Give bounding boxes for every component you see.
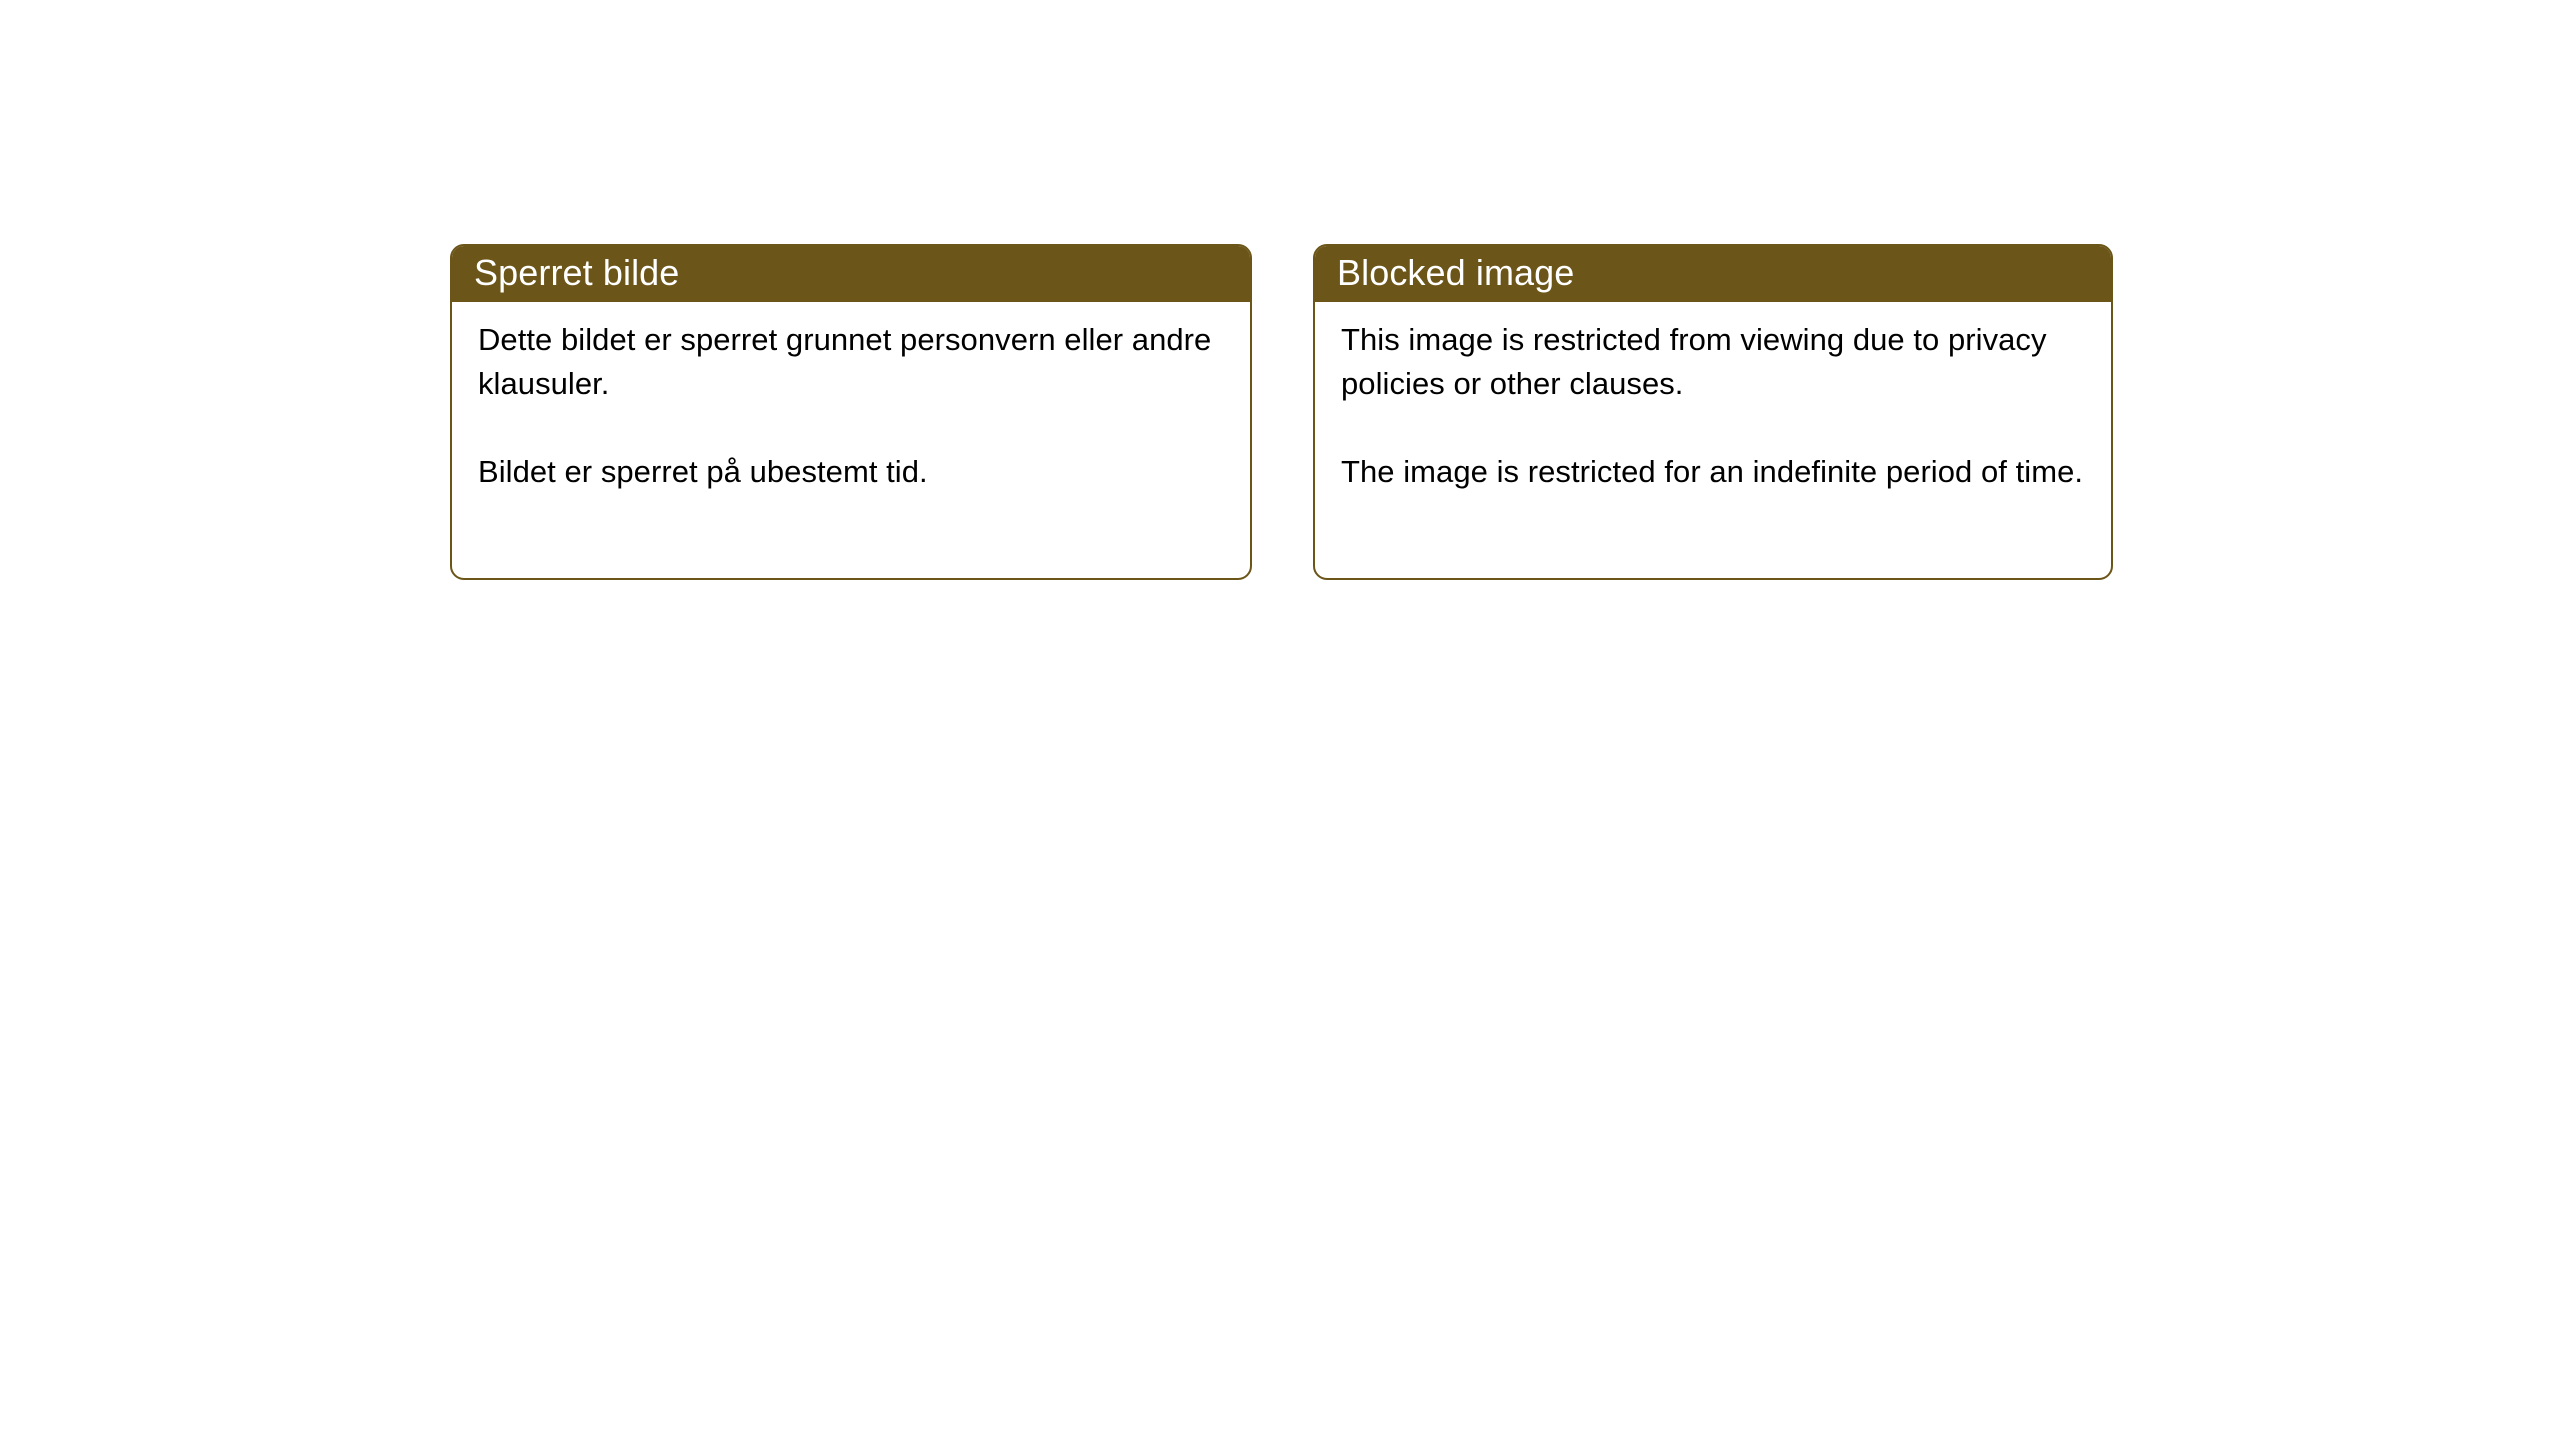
card-header-english: Blocked image <box>1313 244 2113 302</box>
card-paragraph-reason-norwegian: Dette bildet er sperret grunnet personve… <box>478 318 1224 406</box>
card-title-norwegian: Sperret bilde <box>474 255 679 291</box>
card-body-norwegian: Dette bildet er sperret grunnet personve… <box>452 302 1250 494</box>
card-header-norwegian: Sperret bilde <box>450 244 1252 302</box>
card-paragraph-duration-norwegian: Bildet er sperret på ubestemt tid. <box>478 450 1224 494</box>
card-title-english: Blocked image <box>1337 255 1574 291</box>
page-background: Sperret bilde Dette bildet er sperret gr… <box>0 0 2560 1440</box>
card-body-english: This image is restricted from viewing du… <box>1315 302 2111 494</box>
blocked-image-card-norwegian: Sperret bilde Dette bildet er sperret gr… <box>450 244 1252 580</box>
blocked-image-card-english: Blocked image This image is restricted f… <box>1313 244 2113 580</box>
card-paragraph-duration-english: The image is restricted for an indefinit… <box>1341 450 2085 494</box>
card-paragraph-reason-english: This image is restricted from viewing du… <box>1341 318 2085 406</box>
